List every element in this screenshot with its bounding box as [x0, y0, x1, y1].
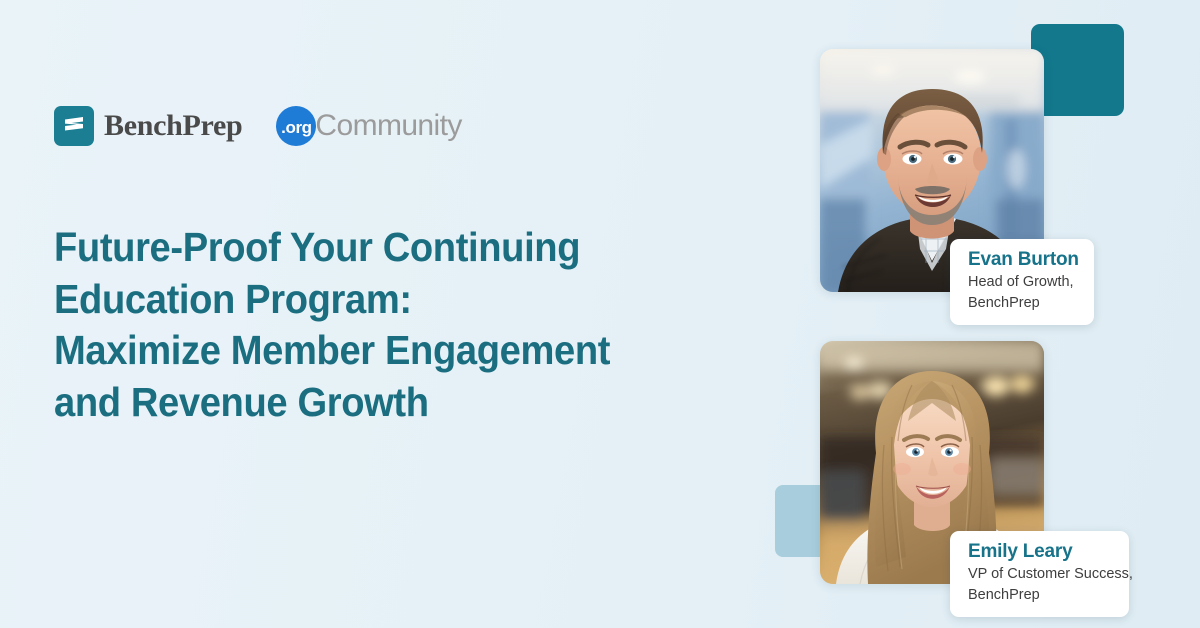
speaker-title-line-1: Head of Growth,	[968, 273, 1078, 292]
benchprep-stacked-s-icon	[54, 106, 94, 146]
benchprep-wordmark: BenchPrep	[104, 111, 242, 141]
speaker-name: Emily Leary	[968, 541, 1113, 563]
headline: Future-Proof Your Continuing Education P…	[54, 222, 705, 429]
headline-line-1: Future-Proof Your Continuing	[54, 222, 705, 274]
logo-row: BenchPrep .org Community	[54, 106, 462, 146]
speaker-name: Evan Burton	[968, 249, 1078, 271]
speaker-card-emily-leary: Emily Leary VP of Customer Success, Benc…	[950, 531, 1129, 617]
decorative-teal-square	[1031, 24, 1124, 116]
headline-line-2: Education Program:	[54, 274, 705, 326]
orgcommunity-wordmark: Community	[315, 111, 461, 141]
orgcommunity-logo: .org Community	[276, 106, 461, 146]
speaker-card-evan-burton: Evan Burton Head of Growth, BenchPrep	[950, 239, 1094, 325]
speaker-title-line-2: BenchPrep	[968, 586, 1113, 605]
benchprep-logo: BenchPrep	[54, 106, 242, 146]
headline-line-4: and Revenue Growth	[54, 377, 705, 429]
promo-banner: BenchPrep .org Community Future-Proof Yo…	[0, 0, 1200, 628]
orgcommunity-circle-icon: .org	[276, 106, 316, 146]
speaker-title-line-2: BenchPrep	[968, 294, 1078, 313]
orgcommunity-dotorg-text: .org	[281, 119, 312, 136]
headline-line-3: Maximize Member Engagement	[54, 325, 705, 377]
speaker-title-line-1: VP of Customer Success,	[968, 565, 1113, 584]
